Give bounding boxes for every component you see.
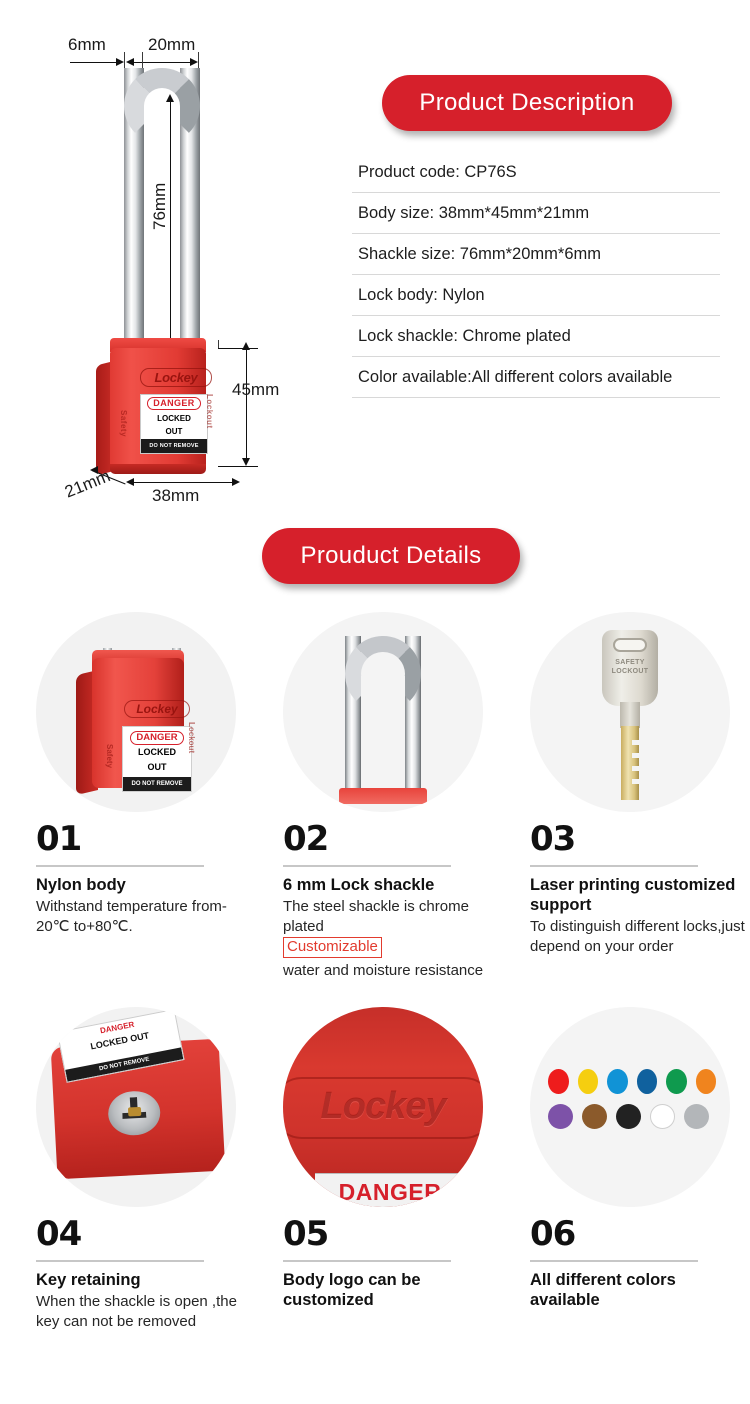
out-text: OUT bbox=[141, 425, 207, 438]
divider bbox=[283, 865, 451, 867]
shackle-bow-mask bbox=[361, 676, 405, 714]
color-swatch[interactable] bbox=[607, 1069, 628, 1094]
locked-text: LOCKED bbox=[123, 745, 191, 760]
lock-body-face: Lockey DANGER LOCKED OUT DO NOT REMOVE S… bbox=[110, 348, 206, 470]
dim-arrow-20mm-right bbox=[190, 58, 198, 66]
feature-card-01: Lockey DANGER LOCKED OUT DO NOT REMOVE S… bbox=[36, 612, 251, 936]
keyhole-brass-pin bbox=[128, 1107, 141, 1117]
feature-number: 03 bbox=[530, 822, 745, 856]
dim-arrow-76mm bbox=[166, 94, 174, 102]
divider bbox=[36, 865, 204, 867]
lock-body-bottom bbox=[110, 464, 206, 474]
divider bbox=[530, 865, 698, 867]
photo-chrome-shackle bbox=[283, 612, 483, 812]
feature-number: 01 bbox=[36, 822, 251, 856]
spec-row: Lock shackle: Chrome plated bbox=[352, 316, 720, 357]
lockout-side-text: Lockout bbox=[205, 394, 214, 429]
color-swatch[interactable] bbox=[650, 1104, 675, 1129]
photo-safety-lockout-key: SAFETY LOCKOUT bbox=[530, 612, 730, 812]
color-swatch-grid bbox=[548, 1069, 716, 1139]
dim-label-body-depth: 21mm bbox=[62, 466, 113, 502]
do-not-remove-text: DO NOT REMOVE bbox=[141, 439, 207, 453]
dim-line-38mm bbox=[128, 482, 238, 483]
feature-grid: Lockey DANGER LOCKED OUT DO NOT REMOVE S… bbox=[0, 612, 750, 1402]
safety-side-text: Safety bbox=[119, 410, 128, 437]
key-tooth bbox=[632, 740, 639, 745]
feature-title: Body logo can be customized bbox=[283, 1270, 498, 1310]
danger-text: DANGER bbox=[315, 1179, 465, 1206]
dim-line-76mm bbox=[170, 100, 171, 350]
warning-label: DANGER LOCKED OUT DO NOT REMOVE bbox=[122, 726, 192, 792]
dim-label-shackle-diameter: 6mm bbox=[68, 35, 106, 55]
color-swatch-row-2 bbox=[548, 1104, 716, 1129]
feature-body: When the shackle is open ,the key can no… bbox=[36, 1292, 251, 1331]
spec-row: Lock body: Nylon bbox=[352, 275, 720, 316]
feature-row-top: Lockey DANGER LOCKED OUT DO NOT REMOVE S… bbox=[0, 612, 750, 1007]
customizable-tag: Customizable bbox=[283, 937, 382, 958]
danger-row: DANGER bbox=[141, 395, 207, 411]
photo-color-swatches bbox=[530, 1007, 730, 1207]
dim-ext-45-bottom bbox=[218, 466, 258, 467]
feature-card-03: SAFETY LOCKOUT 03 bbox=[530, 612, 745, 956]
divider bbox=[36, 1260, 204, 1262]
photo-embossed-lockey-logo: Lockey DANGER bbox=[283, 1007, 483, 1207]
feature-body-top: The steel shackle is chrome plated bbox=[283, 897, 498, 936]
key-hole bbox=[613, 638, 647, 652]
safety-side-text: Safety bbox=[105, 744, 114, 768]
red-body-base bbox=[339, 788, 427, 804]
lockey-brand-emboss: Lockey bbox=[124, 700, 190, 718]
locked-out-row: LOCKED OUT bbox=[141, 411, 207, 439]
hero-section: 6mm 20mm 76mm bbox=[0, 0, 750, 520]
color-swatch[interactable] bbox=[696, 1069, 717, 1094]
feature-number: 02 bbox=[283, 822, 498, 856]
divider bbox=[530, 1260, 698, 1262]
spec-row: Product code: CP76S bbox=[352, 152, 720, 193]
do-not-remove-text: DO NOT REMOVE bbox=[123, 777, 191, 792]
specification-panel: Product Description Product code: CP76S … bbox=[352, 0, 732, 520]
photo-red-padlock-body: Lockey DANGER LOCKED OUT DO NOT REMOVE S… bbox=[36, 612, 236, 812]
feature-title: 6 mm Lock shackle bbox=[283, 875, 498, 895]
danger-text: DANGER bbox=[130, 731, 183, 745]
product-details-banner: Prouduct Details bbox=[262, 528, 520, 584]
dim-ext-45-top bbox=[218, 348, 258, 349]
key-tooth bbox=[632, 766, 639, 771]
warning-label: DANGER LOCKED OUT DO NOT REMOVE bbox=[140, 394, 208, 454]
key-emboss-line2: LOCKOUT bbox=[602, 667, 658, 676]
shackle-bow-mask bbox=[144, 106, 180, 146]
dim-arrow-38mm-right bbox=[232, 478, 240, 486]
product-detail-page: 6mm 20mm 76mm bbox=[0, 0, 750, 1404]
feature-number: 05 bbox=[283, 1217, 498, 1251]
dim-line-6mm bbox=[70, 62, 122, 63]
key-blade bbox=[621, 726, 639, 800]
padlock-body-closeup: DANGER LOCKED OUT DO NOT REMOVE bbox=[51, 1039, 226, 1180]
dim-label-body-height: 45mm bbox=[232, 380, 279, 400]
lock-body-graphic: Lockey DANGER LOCKED OUT DO NOT REMOVE S… bbox=[96, 338, 218, 470]
dim-label-shackle-height: 76mm bbox=[150, 183, 170, 230]
dim-label-shackle-width: 20mm bbox=[148, 35, 195, 55]
color-swatch[interactable] bbox=[684, 1104, 709, 1129]
feature-number: 06 bbox=[530, 1217, 745, 1251]
divider bbox=[283, 1260, 451, 1262]
color-swatch[interactable] bbox=[578, 1069, 599, 1094]
product-description-banner: Product Description bbox=[382, 75, 672, 131]
dim-arrow-45mm-down bbox=[242, 458, 250, 466]
warning-label: DANGER LOCKED OUT DO NOT REMOVE bbox=[57, 1009, 185, 1083]
spec-row: Shackle size: 76mm*20mm*6mm bbox=[352, 234, 720, 275]
dim-arrow-6mm bbox=[116, 58, 124, 66]
feature-title: All different colors available bbox=[530, 1270, 745, 1310]
dim-line-20mm bbox=[128, 62, 196, 63]
ext-line-top-45 bbox=[218, 340, 219, 348]
dimension-drawing: 6mm 20mm 76mm bbox=[0, 0, 330, 520]
photo-padlock-keyhole: DANGER LOCKED OUT DO NOT REMOVE bbox=[36, 1007, 236, 1207]
key-tooth bbox=[632, 753, 639, 758]
key-tooth bbox=[632, 779, 639, 784]
color-swatch[interactable] bbox=[616, 1104, 641, 1129]
danger-row: DANGER bbox=[123, 727, 191, 745]
feature-card-02: 02 6 mm Lock shackle The steel shackle i… bbox=[283, 612, 498, 980]
feature-body-bottom: water and moisture resistance bbox=[283, 961, 498, 981]
spec-row: Body size: 38mm*45mm*21mm bbox=[352, 193, 720, 234]
lockey-brand-emboss: Lockey bbox=[140, 368, 212, 387]
feature-card-06: 06 All different colors available bbox=[530, 1007, 745, 1310]
feature-card-04: DANGER LOCKED OUT DO NOT REMOVE 04 Key r… bbox=[36, 1007, 251, 1331]
danger-text: DANGER bbox=[147, 397, 200, 410]
color-swatch[interactable] bbox=[548, 1069, 569, 1094]
key-neck bbox=[620, 702, 640, 728]
feature-card-05: Lockey DANGER 05 Body logo can be custom… bbox=[283, 1007, 498, 1310]
color-swatch[interactable] bbox=[666, 1069, 687, 1094]
specification-table: Product code: CP76S Body size: 38mm*45mm… bbox=[352, 152, 720, 398]
feature-title: Key retaining bbox=[36, 1270, 251, 1290]
color-swatch-row-1 bbox=[548, 1069, 716, 1094]
dim-arrow-20mm-left bbox=[126, 58, 134, 66]
lockout-side-text: Lockout bbox=[187, 722, 196, 753]
padlock-illustration: Lockey DANGER LOCKED OUT DO NOT REMOVE S… bbox=[76, 640, 194, 788]
feature-title: Nylon body bbox=[36, 875, 251, 895]
feature-body: Withstand temperature from-20℃ to+80℃. bbox=[36, 897, 251, 936]
color-swatch[interactable] bbox=[582, 1104, 607, 1129]
feature-title: Laser printing customized support bbox=[530, 875, 745, 915]
shackle-illustration bbox=[345, 636, 421, 796]
out-text: OUT bbox=[123, 760, 191, 775]
padlock-face: Lockey DANGER LOCKED OUT DO NOT REMOVE S… bbox=[92, 658, 184, 788]
color-swatch[interactable] bbox=[548, 1104, 573, 1129]
feature-body: To distinguish different locks,just depe… bbox=[530, 917, 745, 956]
lockey-brand-emboss: Lockey bbox=[283, 1085, 483, 1128]
dim-label-body-width: 38mm bbox=[152, 486, 199, 506]
feature-number: 04 bbox=[36, 1217, 251, 1251]
locked-out-row: LOCKED OUT bbox=[123, 745, 191, 777]
key-emboss: SAFETY LOCKOUT bbox=[602, 658, 658, 676]
color-swatch[interactable] bbox=[637, 1069, 658, 1094]
key-head: SAFETY LOCKOUT bbox=[602, 630, 658, 706]
feature-row-bottom: DANGER LOCKED OUT DO NOT REMOVE 04 Key r… bbox=[0, 1007, 750, 1402]
key-emboss-line1: SAFETY bbox=[602, 658, 658, 667]
spec-row: Color available:All different colors ava… bbox=[352, 357, 720, 398]
dim-arrow-38mm-left bbox=[126, 478, 134, 486]
locked-text: LOCKED bbox=[141, 412, 207, 425]
key-illustration: SAFETY LOCKOUT bbox=[602, 630, 658, 800]
dim-line-45mm bbox=[246, 348, 247, 464]
